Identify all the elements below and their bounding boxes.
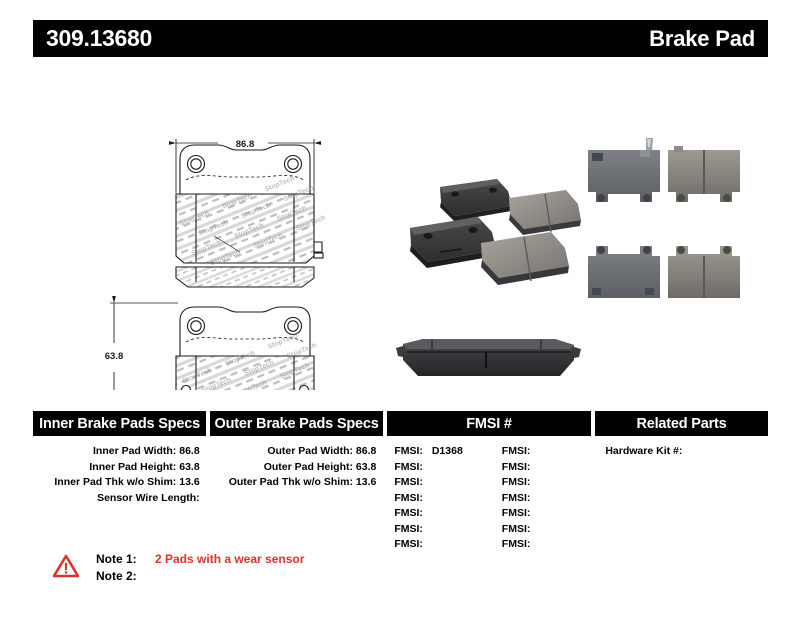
fmsi-value <box>423 507 429 519</box>
table-body-row: Inner Pad Width: 86.8 Inner Pad Height: … <box>33 436 768 553</box>
fmsi-row: FMSI: <box>502 460 592 476</box>
inner-specs-cell: Inner Pad Width: 86.8 Inner Pad Height: … <box>33 444 206 553</box>
spec-label: Sensor Wire Length: <box>97 492 200 504</box>
fmsi-value <box>423 461 429 473</box>
photo-plate-bottomleft <box>588 246 660 298</box>
fmsi-value <box>530 492 536 504</box>
column-header-outer-specs: Outer Brake Pads Specs <box>210 411 383 436</box>
fmsi-value <box>530 507 536 519</box>
related-parts-cell: Hardware Kit #: <box>595 444 768 553</box>
product-type-label: Brake Pad <box>649 26 755 52</box>
spec-value: 63.8 <box>179 461 199 473</box>
note-row-1: Note 1: 2 Pads with a wear sensor <box>96 551 304 568</box>
note2-value <box>148 568 155 585</box>
fmsi-value <box>423 476 429 488</box>
photo-pad-3 <box>509 190 581 235</box>
fmsi-value <box>530 476 536 488</box>
spec-value: 13.6 <box>179 476 199 488</box>
column-header-inner-specs: Inner Brake Pads Specs <box>33 411 206 436</box>
spec-label: Inner Pad Thk w/o Shim: <box>54 476 176 488</box>
fmsi-label: FMSI: <box>394 461 423 473</box>
spec-label: Outer Pad Width: <box>267 445 353 457</box>
fmsi-cell: FMSI: D1368 FMSI: FMSI: FMSI: FMSI: <box>386 444 591 553</box>
warning-triangle-icon <box>53 554 79 578</box>
fmsi-label: FMSI: <box>502 492 531 504</box>
spec-row: Outer Pad Height: 63.8 <box>210 460 383 476</box>
spec-label: Outer Pad Thk w/o Shim: <box>229 476 353 488</box>
photo-pads-perspective <box>410 179 581 285</box>
spec-row: Inner Pad Height: 63.8 <box>33 460 206 476</box>
fmsi-label: FMSI: <box>394 445 423 457</box>
fmsi-value <box>423 538 429 550</box>
outer-specs-cell: Outer Pad Width: 86.8 Outer Pad Height: … <box>210 444 383 553</box>
fmsi-value <box>530 523 536 535</box>
fmsi-label: FMSI: <box>394 507 423 519</box>
fmsi-value <box>530 445 536 457</box>
photo-plate-topleft <box>588 150 660 202</box>
spec-label: Outer Pad Height: <box>264 461 353 473</box>
note1-value: 2 Pads with a wear sensor <box>148 551 304 568</box>
related-parts-label: Hardware Kit #: <box>605 445 682 457</box>
fmsi-label: FMSI: <box>394 492 423 504</box>
related-parts-row: Hardware Kit #: <box>595 444 768 460</box>
spec-value: 13.6 <box>356 476 376 488</box>
table-header-row: Inner Brake Pads Specs Outer Brake Pads … <box>33 411 768 436</box>
column-header-fmsi: FMSI # <box>387 411 591 436</box>
notes-area: Note 1: 2 Pads with a wear sensor Note 2… <box>53 551 553 585</box>
fmsi-label: FMSI: <box>502 523 531 535</box>
fmsi-row: FMSI: <box>502 522 592 538</box>
fmsi-label: FMSI: <box>502 476 531 488</box>
photo-pads-topdown <box>588 138 740 298</box>
fmsi-row: FMSI: <box>394 506 501 522</box>
header-bar: 309.13680 Brake Pad <box>33 20 768 57</box>
fmsi-label: FMSI: <box>394 538 423 550</box>
note2-label: Note 2: <box>96 568 148 585</box>
notes-text-block: Note 1: 2 Pads with a wear sensor Note 2… <box>96 551 304 585</box>
fmsi-row: FMSI: <box>394 491 501 507</box>
photo-pad-4 <box>481 232 569 285</box>
fmsi-row: FMSI: <box>394 522 501 538</box>
spec-value: 63.8 <box>356 461 376 473</box>
photo-pad-1 <box>440 179 512 221</box>
spec-value: 86.8 <box>179 445 199 457</box>
fmsi-row: FMSI: D1368 <box>394 444 501 460</box>
photo-friction-bottomright <box>668 246 740 298</box>
fmsi-value <box>530 538 536 550</box>
fmsi-label: FMSI: <box>394 476 423 488</box>
spec-row: Inner Pad Thk w/o Shim: 13.6 <box>33 475 206 491</box>
fmsi-column-a: FMSI: D1368 FMSI: FMSI: FMSI: FMSI: <box>386 444 501 553</box>
note1-label: Note 1: <box>96 551 148 568</box>
spec-table: Inner Brake Pads Specs Outer Brake Pads … <box>33 411 768 553</box>
spec-row: Outer Pad Width: 86.8 <box>210 444 383 460</box>
fmsi-value <box>423 492 429 504</box>
fmsi-row: FMSI: <box>502 506 592 522</box>
fmsi-row: FMSI: <box>394 460 501 476</box>
part-number: 309.13680 <box>46 25 152 52</box>
fmsi-column-b: FMSI: FMSI: FMSI: FMSI: FMSI: <box>502 444 592 553</box>
fmsi-label: FMSI: <box>394 523 423 535</box>
photo-friction-topright <box>668 146 740 202</box>
fmsi-row: FMSI: <box>502 444 592 460</box>
fmsi-row: FMSI: <box>502 491 592 507</box>
fmsi-value <box>423 523 429 535</box>
fmsi-row: FMSI: <box>502 475 592 491</box>
spec-label: Inner Pad Width: <box>93 445 176 457</box>
fmsi-row: FMSI: <box>394 475 501 491</box>
spec-value: 86.8 <box>356 445 376 457</box>
note-row-2: Note 2: <box>96 568 304 585</box>
spec-row: Sensor Wire Length: <box>33 491 206 507</box>
fmsi-label: FMSI: <box>502 445 531 457</box>
fmsi-label: FMSI: <box>502 461 531 473</box>
wear-sensor-tab <box>646 138 653 150</box>
spec-row: Outer Pad Thk w/o Shim: 13.6 <box>210 475 383 491</box>
photo-pad-edge <box>396 339 581 376</box>
fmsi-value <box>530 461 536 473</box>
column-header-related-parts: Related Parts <box>595 411 768 436</box>
product-photos <box>0 60 800 390</box>
fmsi-label: FMSI: <box>502 507 531 519</box>
spec-row: Inner Pad Width: 86.8 <box>33 444 206 460</box>
illustration-area: 86.8 63.8 13.6 StopTechStopTech StopTech… <box>0 60 800 390</box>
fmsi-label: FMSI: <box>502 538 531 550</box>
spec-label: Inner Pad Height: <box>89 461 176 473</box>
fmsi-value: D1368 <box>426 445 463 457</box>
